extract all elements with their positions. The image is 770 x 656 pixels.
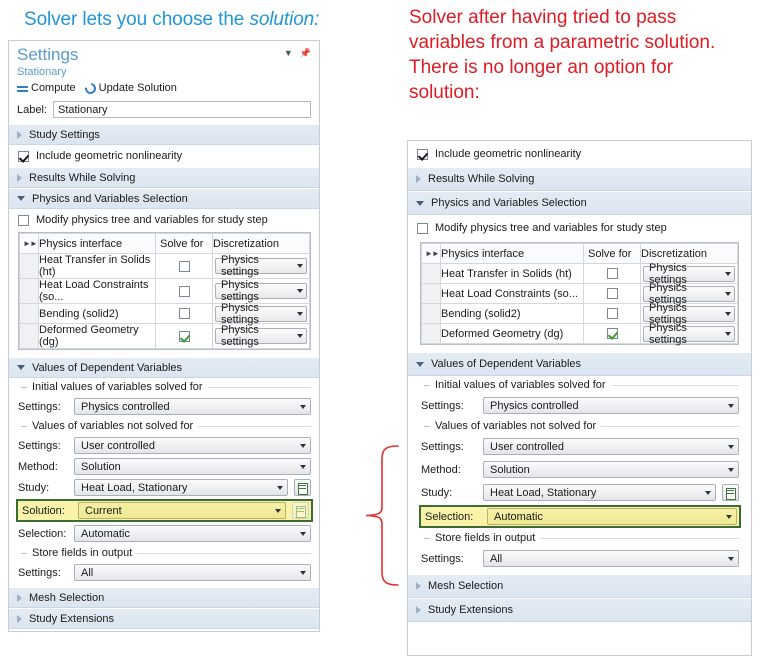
label-caption: Label: — [17, 104, 47, 116]
compute-button-label: Compute — [31, 82, 76, 94]
discretization-value: Physics settings — [221, 324, 297, 348]
modify-physics-tree-row[interactable]: Modify physics tree and variables for st… — [9, 209, 319, 231]
selection-row-highlighted: Selection: Automatic — [419, 505, 741, 528]
solve-for-checkbox[interactable] — [607, 268, 618, 279]
discretization-value: Physics settings — [649, 322, 725, 346]
initial-settings-row: Settings: Physics controlled — [408, 394, 751, 417]
section-mesh-selection[interactable]: Mesh Selection — [9, 587, 319, 608]
selection-label: Selection: — [423, 511, 481, 523]
solve-for-checkbox[interactable] — [607, 288, 618, 299]
modify-physics-tree-label: Modify physics tree and variables for st… — [435, 222, 667, 234]
caret-down-icon — [297, 312, 303, 316]
study-select[interactable]: Heat Load, Stationary — [74, 479, 288, 496]
settings-row: Settings: User controlled — [408, 435, 751, 458]
store-settings-select[interactable]: All — [74, 564, 311, 581]
update-solution-button[interactable]: Update Solution — [85, 82, 177, 94]
row-handle — [20, 254, 39, 279]
table-header-row: ►► Physics interface Solve for Discretiz… — [20, 234, 310, 254]
section-physics-and-variables-label: Physics and Variables Selection — [32, 193, 188, 205]
modify-physics-tree-row[interactable]: Modify physics tree and variables for st… — [408, 215, 751, 241]
legend-rule — [611, 385, 739, 386]
section-results-while-solving[interactable]: Results While Solving — [408, 167, 751, 191]
physics-grid: ►► Physics interface Solve for Discretiz… — [420, 242, 739, 345]
section-mesh-selection-label: Mesh Selection — [428, 580, 503, 592]
discretization-select[interactable]: Physics settings — [643, 266, 735, 282]
section-physics-and-variables[interactable]: Physics and Variables Selection — [408, 191, 751, 215]
caret-down-icon — [300, 465, 306, 469]
section-values-of-dependent-variables-label: Values of Dependent Variables — [431, 358, 581, 370]
row-solve-for[interactable] — [584, 264, 641, 284]
settings-panel-right: Include geometric nonlinearity Results W… — [407, 140, 752, 656]
discretization-select[interactable]: Physics settings — [643, 306, 735, 322]
row-solve-for[interactable] — [156, 254, 213, 279]
settings-select[interactable]: User controlled — [74, 437, 311, 454]
study-value: Heat Load, Stationary — [490, 487, 596, 499]
section-physics-and-variables[interactable]: Physics and Variables Selection — [9, 188, 319, 209]
header-solve-for: Solve for — [584, 244, 641, 264]
row-interface: Bending (solid2) — [39, 304, 156, 324]
store-settings-label: Settings: — [18, 567, 68, 579]
modify-physics-tree-checkbox[interactable] — [417, 223, 428, 234]
solution-row-highlighted: Solution: Current — [16, 499, 313, 522]
caret-down-icon — [725, 292, 731, 296]
caret-down-icon — [275, 509, 281, 513]
row-discretization[interactable]: Physics settings — [213, 254, 310, 279]
row-discretization[interactable]: Physics settings — [213, 279, 310, 304]
section-study-settings-label: Study Settings — [29, 129, 100, 141]
header-discretization: Discretization — [641, 244, 738, 264]
study-label: Study: — [421, 487, 477, 499]
solve-for-checkbox[interactable] — [179, 308, 190, 319]
store-settings-row: Settings: All — [408, 547, 751, 574]
caret-down-icon — [728, 557, 734, 561]
row-handle — [422, 284, 441, 304]
chevron-right-icon — [17, 174, 22, 182]
section-study-extensions-label: Study Extensions — [29, 613, 114, 625]
section-values-of-dependent-variables[interactable]: Values of Dependent Variables — [9, 357, 319, 378]
copy-solution-icon[interactable] — [722, 484, 739, 501]
legend-not-solved: Values of variables not solved for — [408, 417, 751, 435]
legend-dash-icon — [21, 387, 27, 388]
legend-store-fields: Store fields in output — [9, 544, 319, 562]
legend-initial-values-label: Initial values of variables solved for — [435, 379, 606, 391]
legend-store-fields-label: Store fields in output — [32, 547, 132, 559]
row-handle — [422, 304, 441, 324]
discretization-select[interactable]: Physics settings — [215, 306, 307, 322]
section-mesh-selection-label: Mesh Selection — [29, 592, 104, 604]
discretization-select[interactable]: Physics settings — [643, 326, 735, 342]
discretization-select[interactable]: Physics settings — [215, 283, 307, 299]
selection-select[interactable]: Automatic — [487, 508, 737, 525]
compute-icon — [17, 84, 28, 93]
caret-down-icon — [725, 312, 731, 316]
legend-dash-icon — [424, 426, 430, 427]
update-solution-label: Update Solution — [99, 82, 177, 94]
header-physics-interface: Physics interface — [39, 234, 156, 254]
settings-subtitle: Stationary — [17, 65, 311, 79]
study-value: Heat Load, Stationary — [81, 482, 187, 494]
grid-handle-cell[interactable]: ►► — [422, 244, 441, 264]
method-select[interactable]: Solution — [74, 458, 311, 475]
chevron-down-icon[interactable]: ▼ — [284, 49, 293, 58]
caret-down-icon — [728, 404, 734, 408]
section-mesh-selection[interactable]: Mesh Selection — [408, 574, 751, 598]
caret-down-icon — [705, 491, 711, 495]
method-row: Method: Solution — [9, 456, 319, 477]
selection-select[interactable]: Automatic — [74, 525, 311, 542]
store-settings-value: All — [81, 567, 93, 579]
row-interface: Heat Load Constraints (so... — [441, 284, 584, 304]
compute-button[interactable]: Compute — [17, 82, 76, 94]
include-geometric-nonlinearity-label: Include geometric nonlinearity — [36, 150, 182, 162]
expand-columns-icon[interactable]: ►► — [422, 249, 440, 258]
left-caption: Solver lets you choose the solution: — [24, 9, 354, 31]
row-discretization[interactable]: Physics settings — [641, 284, 738, 304]
row-handle — [422, 264, 441, 284]
row-solve-for[interactable] — [584, 304, 641, 324]
solution-value: Current — [85, 505, 122, 517]
settings-title: Settings — [17, 45, 311, 65]
legend-rule — [137, 553, 311, 554]
row-handle — [20, 304, 39, 324]
solve-for-checkbox[interactable] — [179, 261, 190, 272]
caret-down-icon — [297, 264, 303, 268]
legend-not-solved: Values of variables not solved for — [9, 417, 319, 435]
caret-down-icon — [300, 571, 306, 575]
initial-settings-select[interactable]: Physics controlled — [483, 397, 739, 414]
chevron-down-icon — [17, 365, 25, 370]
method-label: Method: — [421, 464, 477, 476]
table-row: Deformed Geometry (dg) Physics settings — [422, 324, 738, 344]
initial-settings-label: Settings: — [18, 401, 68, 413]
initial-settings-label: Settings: — [421, 400, 477, 412]
left-caption-text: Solver lets you choose the — [24, 9, 249, 30]
study-row: Study: Heat Load, Stationary — [408, 481, 751, 504]
caret-down-icon — [725, 272, 731, 276]
caret-down-icon — [277, 486, 283, 490]
discretization-select[interactable]: Physics settings — [215, 328, 307, 344]
row-interface: Deformed Geometry (dg) — [441, 324, 584, 344]
legend-not-solved-label: Values of variables not solved for — [435, 420, 596, 432]
store-settings-value: All — [490, 553, 502, 565]
section-values-of-dependent-variables[interactable]: Values of Dependent Variables — [408, 352, 751, 376]
row-solve-for[interactable] — [584, 324, 641, 344]
table-row: Deformed Geometry (dg) Physics settings — [20, 324, 310, 349]
caret-down-icon — [728, 468, 734, 472]
initial-settings-value: Physics controlled — [81, 401, 170, 413]
chevron-right-icon — [17, 615, 22, 623]
legend-initial-values: Initial values of variables solved for — [9, 378, 319, 396]
settings-value: User controlled — [490, 441, 564, 453]
settings-select[interactable]: User controlled — [483, 438, 739, 455]
discretization-select[interactable]: Physics settings — [215, 258, 307, 274]
chevron-right-icon — [17, 594, 22, 602]
solve-for-checkbox[interactable] — [179, 286, 190, 297]
initial-settings-row: Settings: Physics controlled — [9, 396, 319, 417]
include-geometric-nonlinearity-label: Include geometric nonlinearity — [435, 148, 581, 160]
selection-label: Selection: — [18, 528, 68, 540]
method-select[interactable]: Solution — [483, 461, 739, 478]
store-settings-label: Settings: — [421, 553, 477, 565]
refresh-icon — [82, 80, 97, 95]
settings-label: Settings: — [18, 440, 68, 452]
method-value: Solution — [81, 461, 121, 473]
table-row: Bending (solid2) Physics settings — [422, 304, 738, 324]
chevron-right-icon — [17, 131, 22, 139]
include-geometric-nonlinearity-checkbox[interactable] — [417, 149, 428, 160]
copy-solution-icon[interactable] — [292, 502, 309, 519]
caret-down-icon — [725, 332, 731, 336]
row-discretization[interactable]: Physics settings — [641, 304, 738, 324]
solve-for-checkbox[interactable] — [607, 328, 618, 339]
settings-row: Settings: User controlled — [9, 435, 319, 456]
initial-settings-value: Physics controlled — [490, 400, 579, 412]
chevron-right-icon — [416, 175, 421, 183]
section-results-while-solving-label: Results While Solving — [29, 172, 135, 184]
include-geometric-nonlinearity-row[interactable]: Include geometric nonlinearity — [408, 141, 751, 167]
chevron-right-icon — [416, 606, 421, 614]
table-row: Heat Load Constraints (so... Physics set… — [422, 284, 738, 304]
solution-select[interactable]: Current — [78, 502, 286, 519]
table-row: Heat Transfer in Solids (ht) Physics set… — [422, 264, 738, 284]
settings-label: Settings: — [421, 441, 477, 453]
row-solve-for[interactable] — [156, 304, 213, 324]
panel-header-controls: ▼ 📌 — [284, 49, 311, 58]
row-interface: Heat Load Constraints (so... — [39, 279, 156, 304]
section-physics-and-variables-label: Physics and Variables Selection — [431, 197, 587, 209]
legend-initial-values: Initial values of variables solved for — [408, 376, 751, 394]
selection-value: Automatic — [494, 511, 543, 523]
row-discretization[interactable]: Physics settings — [213, 304, 310, 324]
initial-settings-select[interactable]: Physics controlled — [74, 398, 311, 415]
solve-for-checkbox[interactable] — [607, 308, 618, 319]
legend-initial-values-label: Initial values of variables solved for — [32, 381, 203, 393]
discretization-value: Physics settings — [221, 302, 297, 326]
expand-columns-icon[interactable]: ►► — [20, 239, 38, 248]
modify-physics-tree-checkbox[interactable] — [18, 215, 29, 226]
study-label: Study: — [18, 482, 68, 494]
row-interface: Heat Transfer in Solids (ht) — [441, 264, 584, 284]
settings-value: User controlled — [81, 440, 155, 452]
study-row: Study: Heat Load, Stationary — [9, 477, 319, 498]
copy-solution-icon[interactable] — [294, 479, 311, 496]
legend-dash-icon — [21, 426, 27, 427]
method-row: Method: Solution — [408, 458, 751, 481]
legend-dash-icon — [424, 538, 430, 539]
label-input[interactable]: Stationary — [53, 101, 311, 118]
section-results-while-solving-label: Results While Solving — [428, 173, 534, 185]
table-row: Heat Load Constraints (so... Physics set… — [20, 279, 310, 304]
legend-store-fields-label: Store fields in output — [435, 532, 535, 544]
caret-down-icon — [728, 445, 734, 449]
red-bracket-annotation — [338, 443, 404, 588]
section-study-settings[interactable]: Study Settings — [9, 124, 319, 145]
chevron-down-icon — [416, 362, 424, 367]
settings-toolbar: Compute Update Solution — [9, 81, 319, 97]
row-handle — [422, 324, 441, 344]
table-header-row: ►► Physics interface Solve for Discretiz… — [422, 244, 738, 264]
row-discretization[interactable]: Physics settings — [213, 324, 310, 349]
solve-for-checkbox[interactable] — [179, 331, 190, 342]
discretization-select[interactable]: Physics settings — [643, 286, 735, 302]
chevron-right-icon — [416, 582, 421, 590]
header-discretization: Discretization — [213, 234, 310, 254]
section-study-extensions[interactable]: Study Extensions — [408, 598, 751, 622]
selection-value: Automatic — [81, 528, 130, 540]
caret-down-icon — [297, 289, 303, 293]
caret-down-icon — [297, 334, 303, 338]
discretization-value: Physics settings — [221, 254, 297, 278]
discretization-value: Physics settings — [221, 279, 297, 303]
chevron-down-icon — [17, 196, 25, 201]
settings-panel-left: Settings Stationary ▼ 📌 Compute Update S… — [8, 40, 320, 632]
settings-header: Settings Stationary ▼ 📌 — [9, 41, 319, 81]
method-label: Method: — [18, 461, 68, 473]
row-handle — [20, 324, 39, 349]
legend-not-solved-label: Values of variables not solved for — [32, 420, 193, 432]
study-select[interactable]: Heat Load, Stationary — [483, 484, 716, 501]
row-discretization[interactable]: Physics settings — [641, 264, 738, 284]
row-handle — [20, 279, 39, 304]
pin-icon[interactable]: 📌 — [300, 49, 311, 58]
header-physics-interface: Physics interface — [441, 244, 584, 264]
chevron-down-icon — [416, 201, 424, 206]
method-value: Solution — [490, 464, 530, 476]
left-caption-emphasis: solution: — [249, 9, 319, 30]
row-interface: Deformed Geometry (dg) — [39, 324, 156, 349]
legend-dash-icon — [424, 385, 430, 386]
header-solve-for: Solve for — [156, 234, 213, 254]
caret-down-icon — [726, 515, 732, 519]
legend-rule — [540, 538, 739, 539]
section-values-of-dependent-variables-label: Values of Dependent Variables — [32, 362, 182, 374]
table-row: Bending (solid2) Physics settings — [20, 304, 310, 324]
row-solve-for[interactable] — [584, 284, 641, 304]
legend-dash-icon — [21, 553, 27, 554]
table-row: Heat Transfer in Solids (ht) Physics set… — [20, 254, 310, 279]
section-study-extensions-label: Study Extensions — [428, 604, 513, 616]
row-solve-for[interactable] — [156, 324, 213, 349]
row-discretization[interactable]: Physics settings — [641, 324, 738, 344]
solution-label: Solution: — [20, 505, 72, 517]
right-caption: Solver after having tried to pass variab… — [409, 5, 749, 105]
row-interface: Bending (solid2) — [441, 304, 584, 324]
caret-down-icon — [300, 532, 306, 536]
label-row: Label: Stationary — [9, 97, 319, 124]
grid-handle-cell[interactable]: ►► — [20, 234, 39, 254]
include-geometric-nonlinearity-checkbox[interactable] — [18, 151, 29, 162]
section-study-extensions[interactable]: Study Extensions — [9, 608, 319, 629]
legend-rule — [601, 426, 739, 427]
include-geometric-nonlinearity-row[interactable]: Include geometric nonlinearity — [9, 145, 319, 167]
legend-rule — [208, 387, 311, 388]
row-interface: Heat Transfer in Solids (ht) — [39, 254, 156, 279]
section-results-while-solving[interactable]: Results While Solving — [9, 167, 319, 188]
caret-down-icon — [300, 444, 306, 448]
store-settings-row: Settings: All — [9, 562, 319, 587]
physics-grid: ►► Physics interface Solve for Discretiz… — [18, 232, 311, 350]
caret-down-icon — [300, 405, 306, 409]
row-solve-for[interactable] — [156, 279, 213, 304]
selection-row: Selection: Automatic — [9, 523, 319, 544]
legend-store-fields: Store fields in output — [408, 529, 751, 547]
legend-rule — [198, 426, 311, 427]
store-settings-select[interactable]: All — [483, 550, 739, 567]
modify-physics-tree-label: Modify physics tree and variables for st… — [36, 214, 268, 226]
